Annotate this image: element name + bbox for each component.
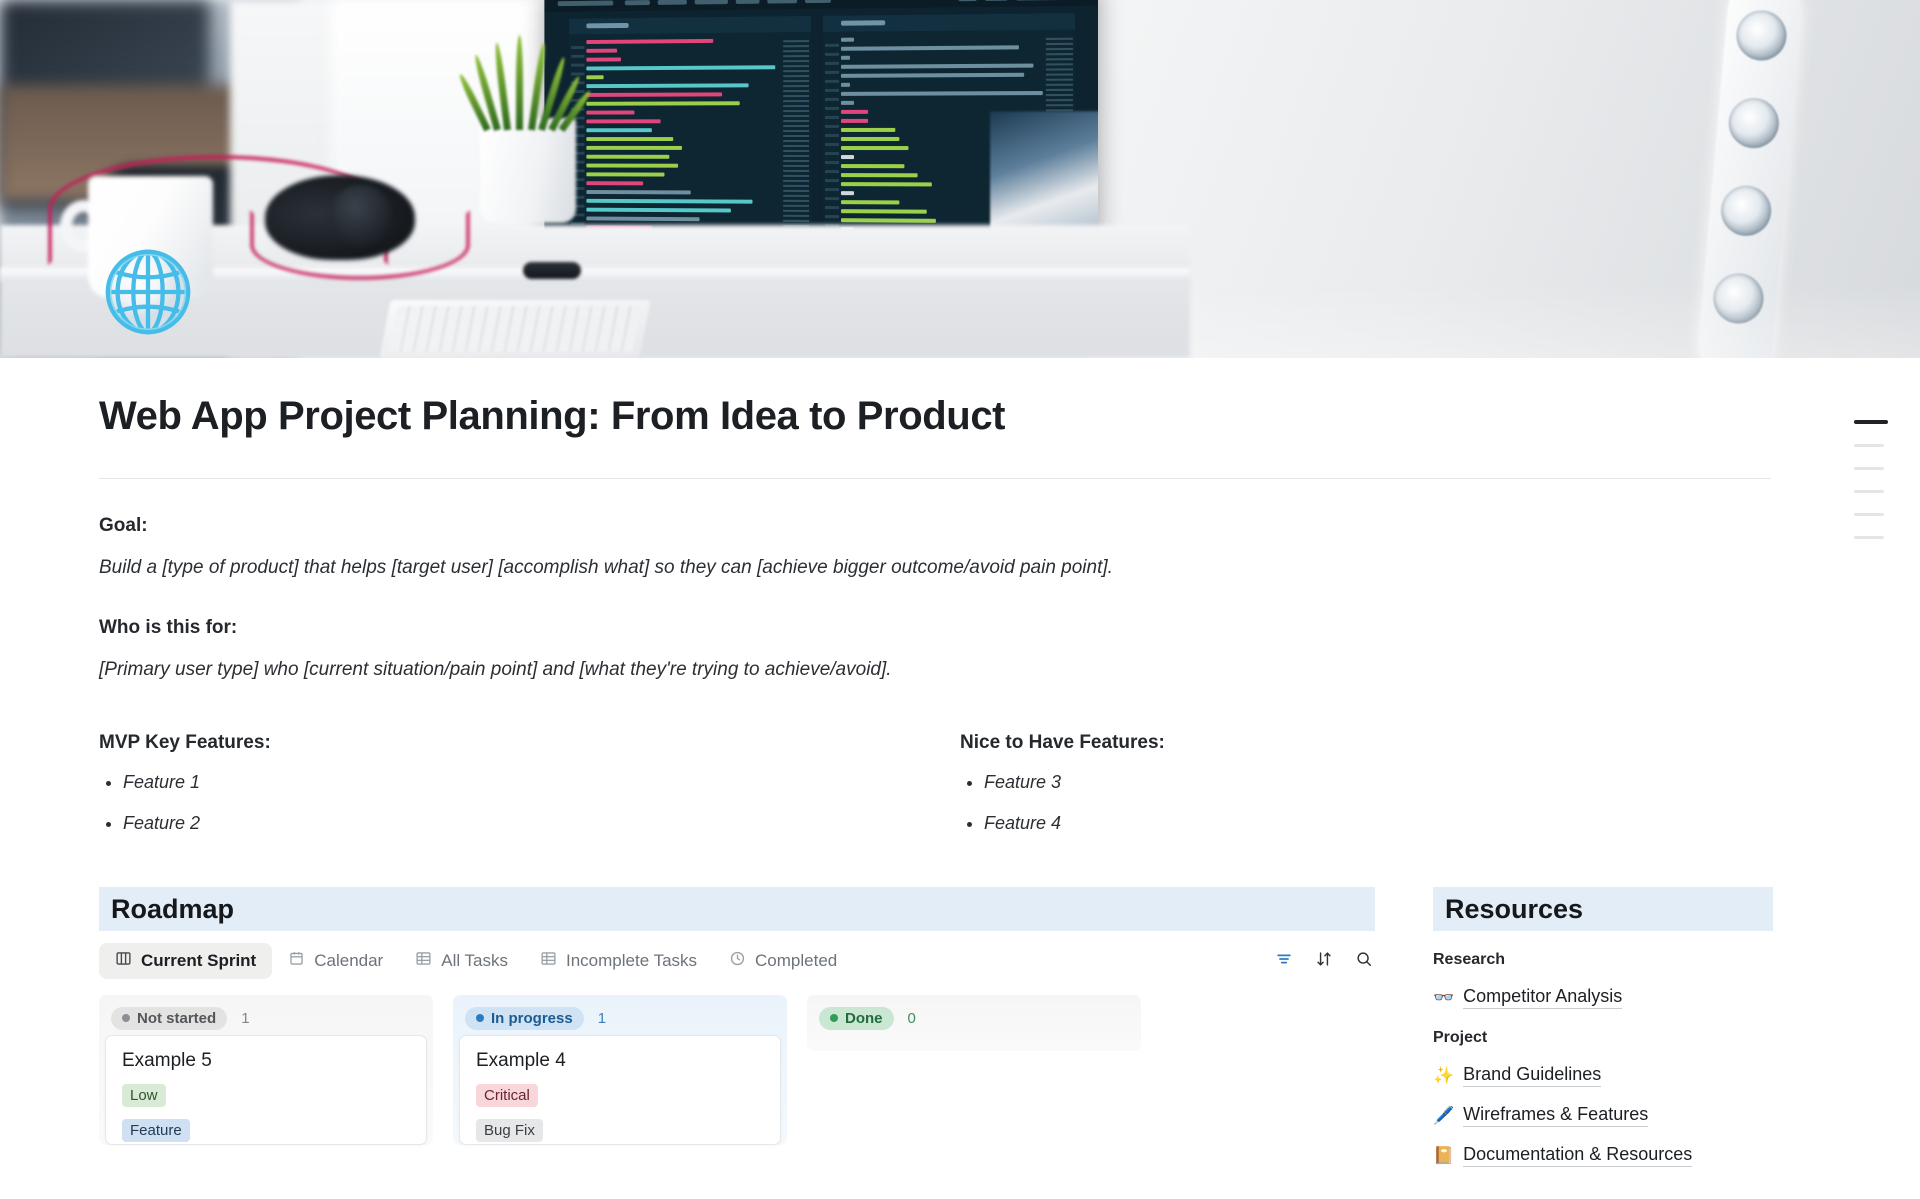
column-count: 0 bbox=[908, 1010, 916, 1027]
resources-group-research: Research bbox=[1433, 951, 1773, 969]
clock-icon bbox=[729, 950, 746, 972]
kanban-board: Not started 1 Example 5 Low Feature bbox=[99, 995, 1375, 1145]
list-item: Feature 2 bbox=[123, 812, 960, 835]
status-dot-icon bbox=[122, 1014, 130, 1022]
kanban-column-in-progress: In progress 1 Example 4 Critical Bug Fix bbox=[453, 995, 787, 1145]
outline-mark[interactable] bbox=[1854, 536, 1884, 539]
resources-banner: Resources bbox=[1433, 887, 1773, 931]
tab-current-sprint[interactable]: Current Sprint bbox=[99, 943, 272, 979]
column-count: 1 bbox=[598, 1010, 606, 1027]
outline-mark-active[interactable] bbox=[1854, 420, 1888, 424]
page-title: Web App Project Planning: From Idea to P… bbox=[99, 358, 1821, 440]
resource-link-brand-guidelines[interactable]: ✨ Brand Guidelines bbox=[1433, 1064, 1773, 1087]
priority-tag: Low bbox=[122, 1084, 166, 1107]
resources-title: Resources bbox=[1445, 896, 1583, 923]
roadmap-banner: Roadmap bbox=[99, 887, 1375, 931]
list-item: Feature 3 bbox=[984, 771, 1821, 794]
type-tag: Bug Fix bbox=[476, 1119, 543, 1142]
list-item: Feature 4 bbox=[984, 812, 1821, 835]
bottom-area: Roadmap Current Sprint bbox=[99, 887, 1821, 1167]
status-label: Done bbox=[845, 1010, 883, 1027]
outline-mark[interactable] bbox=[1854, 467, 1884, 470]
mvp-features-column: MVP Key Features: Feature 1 Feature 2 bbox=[99, 732, 960, 835]
status-badge[interactable]: Done bbox=[819, 1007, 894, 1030]
filter-icon[interactable] bbox=[1275, 950, 1293, 973]
resources-panel: Resources Research 👓 Competitor Analysis… bbox=[1433, 887, 1773, 1167]
tab-label: All Tasks bbox=[441, 951, 508, 971]
status-label: In progress bbox=[491, 1010, 573, 1027]
sort-icon[interactable] bbox=[1315, 950, 1333, 973]
outline-mark[interactable] bbox=[1854, 490, 1884, 493]
column-header: Not started 1 bbox=[105, 1001, 427, 1035]
link-label: Wireframes & Features bbox=[1463, 1104, 1648, 1127]
outline-mark[interactable] bbox=[1854, 513, 1884, 516]
table-icon bbox=[540, 950, 557, 972]
mvp-features-heading: MVP Key Features: bbox=[99, 732, 960, 754]
audience-heading: Who is this for: bbox=[99, 617, 1821, 639]
goal-body: Build a [type of product] that helps [ta… bbox=[99, 555, 1821, 581]
priority-tag: Critical bbox=[476, 1084, 538, 1107]
status-dot-icon bbox=[476, 1014, 484, 1022]
task-card[interactable]: Example 5 Low Feature bbox=[105, 1035, 427, 1145]
tab-label: Current Sprint bbox=[141, 951, 256, 971]
roadmap-toolbar bbox=[1275, 950, 1373, 973]
tab-all-tasks[interactable]: All Tasks bbox=[399, 943, 524, 979]
card-title: Example 4 bbox=[476, 1050, 764, 1072]
list-item: Feature 1 bbox=[123, 771, 960, 794]
document-body: Web App Project Planning: From Idea to P… bbox=[0, 358, 1920, 1167]
audience-section: Who is this for: [Primary user type] who… bbox=[99, 617, 1821, 683]
glasses-icon: 👓 bbox=[1433, 989, 1454, 1006]
tab-completed[interactable]: Completed bbox=[713, 943, 853, 979]
task-card[interactable]: Example 4 Critical Bug Fix bbox=[459, 1035, 781, 1145]
calendar-icon bbox=[288, 950, 305, 972]
table-icon bbox=[415, 950, 432, 972]
column-header: In progress 1 bbox=[459, 1001, 781, 1035]
status-badge[interactable]: Not started bbox=[111, 1007, 227, 1030]
roadmap-title: Roadmap bbox=[111, 896, 234, 923]
link-label: Brand Guidelines bbox=[1463, 1064, 1601, 1087]
column-count: 1 bbox=[241, 1010, 249, 1027]
sparkles-icon: ✨ bbox=[1433, 1067, 1454, 1084]
tab-label: Completed bbox=[755, 951, 837, 971]
title-divider bbox=[99, 478, 1771, 479]
globe-icon bbox=[99, 243, 197, 341]
document-outline-minimap[interactable] bbox=[1854, 420, 1898, 559]
audience-body: [Primary user type] who [current situati… bbox=[99, 657, 1821, 683]
goal-section: Goal: Build a [type of product] that hel… bbox=[99, 515, 1821, 581]
resources-group-project: Project bbox=[1433, 1029, 1773, 1047]
roadmap-panel: Roadmap Current Sprint bbox=[99, 887, 1375, 1167]
tab-label: Incomplete Tasks bbox=[566, 951, 697, 971]
nice-to-have-list: Feature 3 Feature 4 bbox=[984, 771, 1821, 835]
nice-to-have-heading: Nice to Have Features: bbox=[960, 732, 1821, 754]
tab-calendar[interactable]: Calendar bbox=[272, 943, 399, 979]
feature-columns: MVP Key Features: Feature 1 Feature 2 Ni… bbox=[99, 732, 1821, 835]
mvp-features-list: Feature 1 Feature 2 bbox=[123, 771, 960, 835]
page-root: Web App Project Planning: From Idea to P… bbox=[0, 0, 1920, 1199]
resource-link-competitor-analysis[interactable]: 👓 Competitor Analysis bbox=[1433, 986, 1773, 1009]
pen-icon: 🖊️ bbox=[1433, 1107, 1454, 1124]
status-dot-icon bbox=[830, 1014, 838, 1022]
nice-to-have-features-column: Nice to Have Features: Feature 3 Feature… bbox=[960, 732, 1821, 835]
card-title: Example 5 bbox=[122, 1050, 410, 1072]
status-label: Not started bbox=[137, 1010, 216, 1027]
outline-mark[interactable] bbox=[1854, 444, 1884, 447]
tab-label: Calendar bbox=[314, 951, 383, 971]
board-icon bbox=[115, 950, 132, 972]
goal-heading: Goal: bbox=[99, 515, 1821, 537]
search-icon[interactable] bbox=[1355, 950, 1373, 973]
resource-link-documentation-resources[interactable]: 📔 Documentation & Resources bbox=[1433, 1144, 1773, 1167]
kanban-column-done: Done 0 bbox=[807, 995, 1141, 1051]
notebook-icon: 📔 bbox=[1433, 1147, 1454, 1164]
column-header: Done 0 bbox=[813, 1001, 1135, 1035]
status-badge[interactable]: In progress bbox=[465, 1007, 584, 1030]
roadmap-view-tabs: Current Sprint Cale bbox=[99, 943, 1375, 979]
kanban-column-not-started: Not started 1 Example 5 Low Feature bbox=[99, 995, 433, 1145]
resource-link-wireframes-features[interactable]: 🖊️ Wireframes & Features bbox=[1433, 1104, 1773, 1127]
tab-incomplete-tasks[interactable]: Incomplete Tasks bbox=[524, 943, 713, 979]
link-label: Competitor Analysis bbox=[1463, 986, 1622, 1009]
link-label: Documentation & Resources bbox=[1463, 1144, 1692, 1167]
cover-image bbox=[0, 0, 1920, 358]
type-tag: Feature bbox=[122, 1119, 190, 1142]
